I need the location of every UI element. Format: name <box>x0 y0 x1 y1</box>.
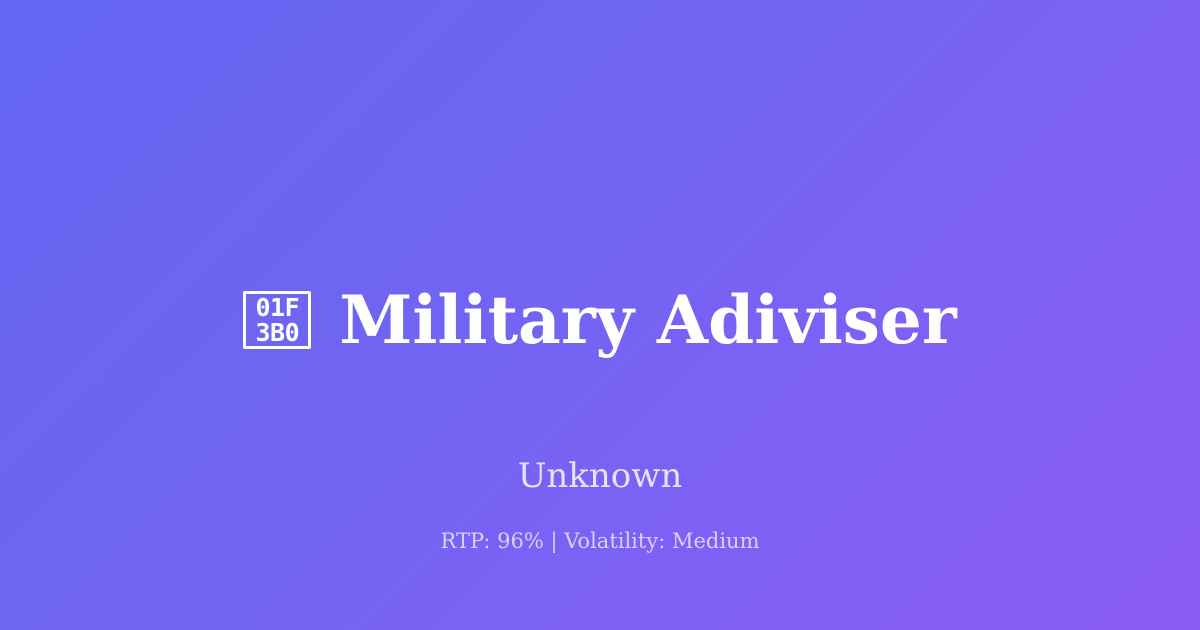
game-stats-meta: RTP: 96% | Volatility: Medium <box>0 527 1200 555</box>
og-share-card: 01F 3B0 Military Adiviser Unknown RTP: 9… <box>0 0 1200 630</box>
tofu-codepoint-row-bottom: 3B0 <box>255 320 299 345</box>
hero-block: 01F 3B0 Military Adiviser Unknown <box>0 236 1200 498</box>
tofu-codepoint-row-top: 01F <box>255 295 299 320</box>
page-title: Military Adiviser <box>339 280 956 360</box>
page-subtitle: Unknown <box>518 454 683 498</box>
slot-machine-icon: 01F 3B0 <box>243 291 311 349</box>
title-row: 01F 3B0 Military Adiviser <box>0 236 1200 404</box>
